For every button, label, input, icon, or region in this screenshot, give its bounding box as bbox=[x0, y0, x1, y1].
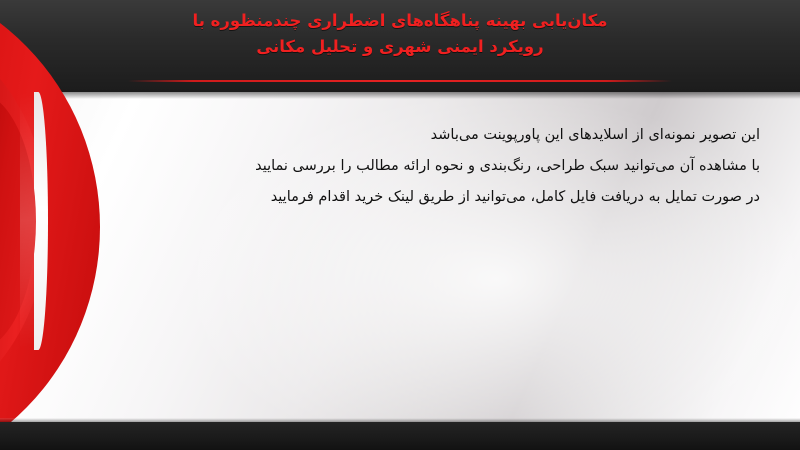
slide-body-line-3: در صورت تمایل به دریافت فایل کامل، می‌تو… bbox=[70, 182, 760, 213]
presentation-slide: مکان‌یابی بهینه پناهگاه‌های اضطراری چندم… bbox=[0, 0, 800, 450]
slide-body: این تصویر نمونه‌ای از اسلایدهای این پاور… bbox=[70, 120, 760, 213]
top-band-shadow bbox=[0, 92, 800, 99]
bottom-dark-band bbox=[0, 422, 800, 450]
slide-body-line-2: با مشاهده آن می‌توانید سبک طراحی، رنگ‌بن… bbox=[70, 151, 760, 182]
slide-title-line-2: رویکرد ایمنی شهری و تحلیل مکانی bbox=[60, 34, 740, 60]
title-underline-rule bbox=[128, 80, 672, 82]
slide-body-line-1: این تصویر نمونه‌ای از اسلایدهای این پاور… bbox=[70, 120, 760, 151]
slide-title: مکان‌یابی بهینه پناهگاه‌های اضطراری چندم… bbox=[0, 8, 800, 60]
slide-title-line-1: مکان‌یابی بهینه پناهگاه‌های اضطراری چندم… bbox=[60, 8, 740, 34]
